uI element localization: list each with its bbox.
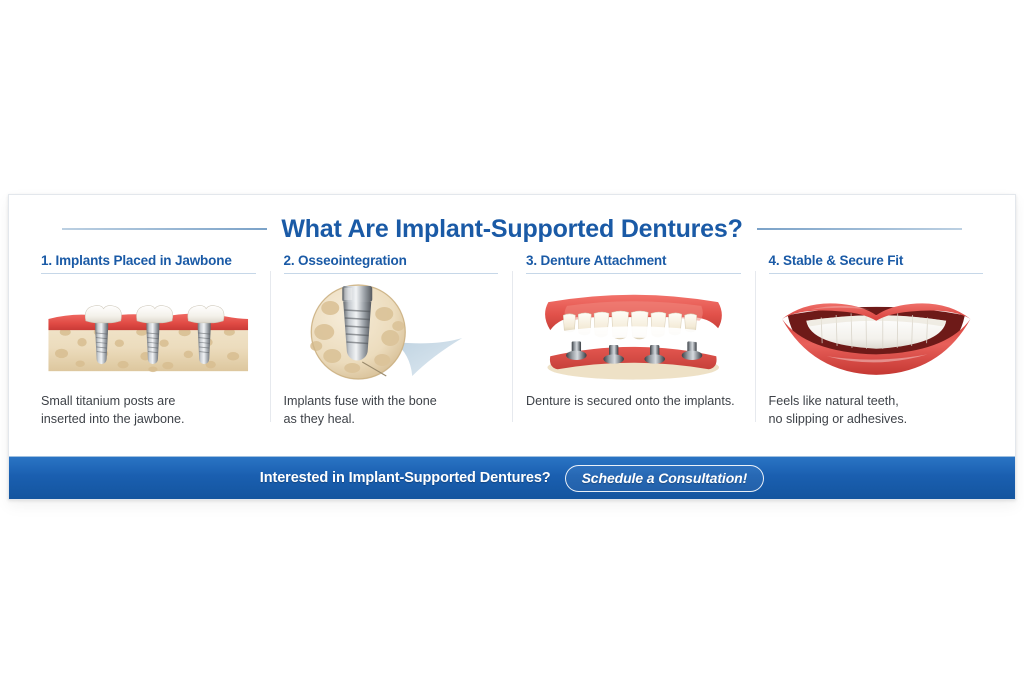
step-heading-underline-2 — [284, 273, 499, 274]
step-illustration-1 — [41, 280, 256, 384]
step-card-2: 2. Osseointegration — [270, 253, 513, 456]
step-caption-1-line1: Small titanium posts are — [41, 394, 175, 408]
step-caption-2: Implants fuse with the bone as they heal… — [284, 384, 499, 429]
magnified-implant-in-bone-icon — [284, 280, 499, 384]
dental-implants-in-jawbone-icon — [41, 280, 256, 384]
step-caption-4-line1: Feels like natural teeth, — [769, 394, 899, 408]
step-illustration-2 — [284, 280, 499, 384]
step-heading-underline-3 — [526, 273, 741, 274]
step-heading-1: 1. Implants Placed in Jawbone — [41, 253, 256, 273]
step-card-4: 4. Stable & Secure Fit — [755, 253, 998, 456]
step-heading-2: 2. Osseointegration — [284, 253, 499, 273]
denture-over-abutments-icon — [526, 280, 741, 384]
steps-row: 1. Implants Placed in Jawbone — [9, 247, 1015, 456]
step-heading-underline-4 — [769, 273, 984, 274]
step-heading-3: 3. Denture Attachment — [526, 253, 741, 273]
step-card-3: 3. Denture Attachment — [512, 253, 755, 456]
smiling-mouth-icon — [769, 280, 984, 384]
step-caption-1: Small titanium posts are inserted into t… — [41, 384, 256, 429]
title-rule-left — [62, 228, 267, 230]
step-caption-2-line2: as they heal. — [284, 410, 499, 428]
infographic-card: What Are Implant-Supported Dentures? 1. … — [8, 194, 1016, 500]
step-caption-2-line1: Implants fuse with the bone — [284, 394, 437, 408]
schedule-consultation-button[interactable]: Schedule a Consultation! — [565, 465, 765, 492]
title-rule-right — [757, 228, 962, 230]
step-caption-3: Denture is secured onto the implants. — [526, 384, 741, 410]
step-card-1: 1. Implants Placed in Jawbone — [27, 253, 270, 456]
step-caption-4-line2: no slipping or adhesives. — [769, 410, 984, 428]
cta-text: Interested in Implant-Supported Dentures… — [260, 470, 551, 486]
step-illustration-4 — [769, 280, 984, 384]
step-caption-3-line1: Denture is secured onto the implants. — [526, 394, 735, 408]
step-heading-underline-1 — [41, 273, 256, 274]
step-heading-4: 4. Stable & Secure Fit — [769, 253, 984, 273]
step-caption-1-line2: inserted into the jawbone. — [41, 410, 256, 428]
page-title: What Are Implant-Supported Dentures? — [281, 215, 742, 244]
step-caption-4: Feels like natural teeth, no slipping or… — [769, 384, 984, 429]
cta-bar: Interested in Implant-Supported Dentures… — [9, 456, 1015, 499]
title-row: What Are Implant-Supported Dentures? — [9, 195, 1015, 247]
step-illustration-3 — [526, 280, 741, 384]
